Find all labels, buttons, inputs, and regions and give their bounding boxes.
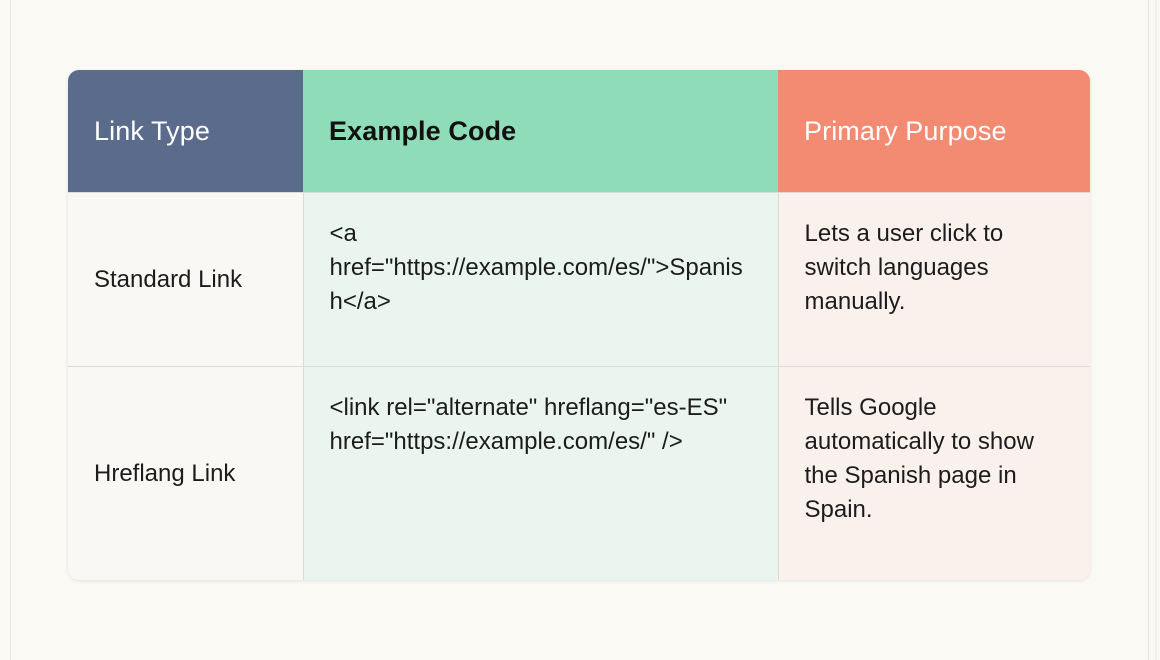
comparison-table-container: Link Type Example Code Primary Purpose S… bbox=[68, 70, 1090, 580]
cell-example-code: <a href="https://example.com/es/">Spanis… bbox=[303, 193, 778, 367]
cell-link-type: Hreflang Link bbox=[68, 367, 303, 580]
column-header-primary-purpose: Primary Purpose bbox=[778, 70, 1090, 193]
table-row: Hreflang Link <link rel="alternate" href… bbox=[68, 367, 1090, 580]
table-header-row: Link Type Example Code Primary Purpose bbox=[68, 70, 1090, 193]
table-header: Link Type Example Code Primary Purpose bbox=[68, 70, 1090, 193]
cell-link-type: Standard Link bbox=[68, 193, 303, 367]
column-header-link-type: Link Type bbox=[68, 70, 303, 193]
cell-primary-purpose: Tells Google automatically to show the S… bbox=[778, 367, 1090, 580]
page-edge-left bbox=[10, 0, 11, 660]
cell-example-code: <link rel="alternate" hreflang="es-ES" h… bbox=[303, 367, 778, 580]
link-type-comparison-table: Link Type Example Code Primary Purpose S… bbox=[68, 70, 1090, 580]
cell-primary-purpose: Lets a user click to switch languages ma… bbox=[778, 193, 1090, 367]
page-scrollbar-track[interactable] bbox=[1155, 0, 1157, 660]
table-row: Standard Link <a href="https://example.c… bbox=[68, 193, 1090, 367]
page-edge-right bbox=[1148, 0, 1149, 660]
table-body: Standard Link <a href="https://example.c… bbox=[68, 193, 1090, 581]
column-header-example-code: Example Code bbox=[303, 70, 778, 193]
